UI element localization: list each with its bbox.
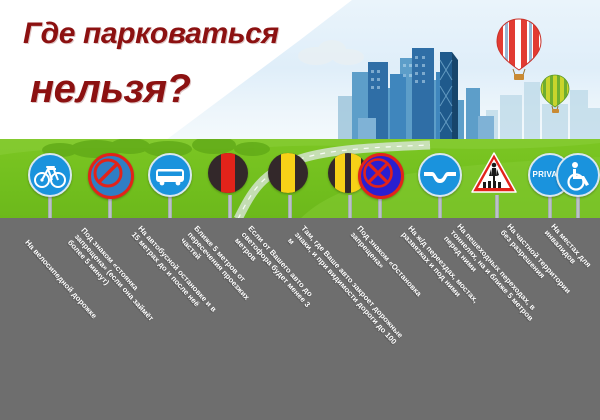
page-title-line1: Где парковаться xyxy=(23,18,279,50)
intersection-sign[interactable] xyxy=(208,153,252,219)
red-white-balloon xyxy=(495,18,543,80)
bicycle-lane-sign[interactable] xyxy=(28,153,72,219)
traffic-light-red-icon xyxy=(208,153,248,193)
pedestrian-crossing-sign[interactable] xyxy=(472,151,522,219)
no-stopping-sign[interactable] xyxy=(358,153,402,219)
traffic-light-yellow-icon xyxy=(268,153,308,193)
parking-infographic-poster: Где парковаться нельзя? xyxy=(0,0,600,420)
traffic-light-sign[interactable] xyxy=(268,153,312,219)
pedestrian-crossing-icon xyxy=(470,151,518,195)
bridge-icon xyxy=(420,155,460,195)
bus-icon xyxy=(150,155,190,195)
wheelchair-icon xyxy=(558,155,598,195)
bridge-sign[interactable] xyxy=(418,153,462,219)
signs-row: PRIVATE xyxy=(0,139,600,221)
page-title-line2: нельзя? xyxy=(30,68,190,110)
disabled-parking-sign[interactable] xyxy=(556,153,600,219)
yellow-green-balloon xyxy=(540,74,570,114)
bicycle-icon xyxy=(30,155,70,195)
bus-stop-sign[interactable] xyxy=(148,153,192,219)
no-parking-icon xyxy=(91,156,125,190)
captions-panel: На велосипедной дорожке Под знаком «стоя… xyxy=(0,218,600,420)
no-parking-sign[interactable] xyxy=(88,153,132,219)
no-stopping-icon xyxy=(361,156,395,190)
